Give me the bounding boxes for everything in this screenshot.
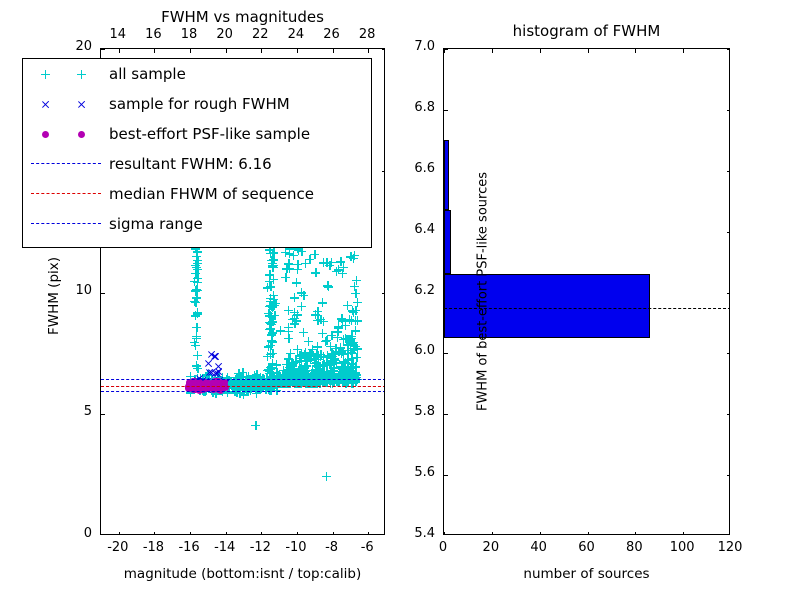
tick-mark xyxy=(683,49,684,53)
scatter-point-all-sample xyxy=(281,273,290,282)
figure-canvas: FWHM vs magnitudes 1416182022242628 -20-… xyxy=(0,0,800,600)
tick-mark xyxy=(382,171,384,172)
legend-symbol xyxy=(78,131,85,138)
legend-symbol xyxy=(77,100,86,109)
scatter-point-all-sample xyxy=(263,366,272,375)
legend-symbol xyxy=(41,100,50,109)
tick-mark xyxy=(540,49,541,53)
left-ytick-10: 10 xyxy=(62,283,92,298)
left-ytick-20: 20 xyxy=(62,39,92,54)
right-ytick-5.8: 5.8 xyxy=(401,404,435,419)
legend-item: best-effort PSF-like sample xyxy=(23,119,371,149)
reference-line-dashed xyxy=(101,386,384,387)
scatter-point-all-sample xyxy=(193,308,202,317)
tick-mark xyxy=(727,414,729,415)
tick-mark xyxy=(727,293,729,294)
scatter-point-all-sample xyxy=(334,322,343,331)
scatter-point-all-sample xyxy=(322,472,331,481)
scatter-point-all-sample xyxy=(311,310,320,319)
scatter-point-all-sample xyxy=(290,314,299,323)
scatter-point-all-sample xyxy=(190,277,199,286)
scatter-point-all-sample xyxy=(353,298,362,307)
tick-mark xyxy=(297,49,298,53)
right-xtick-100: 100 xyxy=(666,540,698,555)
scatter-point-all-sample xyxy=(312,350,321,359)
scatter-point-all-sample xyxy=(284,334,293,343)
scatter-point-all-sample xyxy=(284,306,293,315)
right-y-axis-label: FWHM of best-effort PSF-like sources xyxy=(476,127,491,457)
tick-mark xyxy=(154,49,155,53)
scatter-point-all-sample xyxy=(352,276,361,285)
left-toptick-16: 16 xyxy=(139,27,167,42)
right-ytick-6.8: 6.8 xyxy=(401,100,435,115)
tick-mark xyxy=(492,532,493,534)
right-ytick-6.4: 6.4 xyxy=(401,222,435,237)
right-ytick-7.0: 7.0 xyxy=(401,39,435,54)
tick-mark xyxy=(333,532,334,534)
legend-marker-plus-icon xyxy=(23,59,109,89)
legend-line xyxy=(31,193,101,194)
tick-mark xyxy=(444,414,448,415)
legend-line xyxy=(31,163,101,164)
tick-mark xyxy=(154,532,155,534)
legend-item: sigma range xyxy=(23,209,371,239)
scatter-point-rough-fwhm xyxy=(211,369,220,378)
left-y-axis-label: FWHM (pix) xyxy=(46,236,62,356)
scatter-point-all-sample xyxy=(352,353,361,362)
reference-line-dashdot xyxy=(101,379,384,380)
left-x-axis-label: magnitude (bottom:isnt / top:calib) xyxy=(100,566,385,582)
legend-label: best-effort PSF-like sample xyxy=(109,125,310,143)
scatter-point-all-sample xyxy=(349,254,358,263)
left-chart-title: FWHM vs magnitudes xyxy=(100,8,385,26)
right-ytick-6.6: 6.6 xyxy=(401,161,435,176)
left-toptick-24: 24 xyxy=(282,27,310,42)
right-xtick-60: 60 xyxy=(571,540,603,555)
tick-mark xyxy=(588,49,589,53)
left-toptick-26: 26 xyxy=(318,27,346,42)
legend-item: median FHWM of sequence xyxy=(23,179,371,209)
tick-mark xyxy=(333,49,334,53)
tick-mark xyxy=(727,475,729,476)
tick-mark xyxy=(190,532,191,534)
right-ytick-6.0: 6.0 xyxy=(401,343,435,358)
left-xtick--8: -8 xyxy=(318,540,346,555)
scatter-point-all-sample xyxy=(323,281,332,290)
tick-mark xyxy=(368,532,369,534)
scatter-point-all-sample xyxy=(193,286,202,295)
tick-mark xyxy=(444,110,448,111)
tick-mark xyxy=(382,414,384,415)
tick-mark xyxy=(101,414,105,415)
scatter-point-all-sample xyxy=(347,362,356,371)
scatter-point-all-sample xyxy=(251,421,260,430)
scatter-point-all-sample xyxy=(192,362,201,371)
left-xtick--20: -20 xyxy=(104,540,132,555)
legend-item: resultant FWHM: 6.16 xyxy=(23,149,371,179)
tick-mark xyxy=(683,532,684,534)
tick-mark xyxy=(727,353,729,354)
tick-mark xyxy=(727,110,729,111)
scatter-point-all-sample xyxy=(351,326,360,335)
legend-item: sample for rough FWHM xyxy=(23,89,371,119)
tick-mark xyxy=(727,49,729,50)
tick-mark xyxy=(190,49,191,53)
legend-marker-dashed-line-icon xyxy=(23,149,109,179)
left-xtick--18: -18 xyxy=(139,540,167,555)
right-x-axis-label: number of sources xyxy=(443,566,730,582)
left-toptick-28: 28 xyxy=(353,27,381,42)
scatter-point-all-sample xyxy=(351,316,360,325)
tick-mark xyxy=(727,171,729,172)
legend-symbol xyxy=(77,70,86,79)
right-xtick-20: 20 xyxy=(475,540,507,555)
tick-mark xyxy=(368,49,369,53)
scatter-point-all-sample xyxy=(337,314,346,323)
left-ytick-0: 0 xyxy=(62,526,92,541)
scatter-point-all-sample xyxy=(297,302,306,311)
right-ytick-5.4: 5.4 xyxy=(401,526,435,541)
legend-label: resultant FWHM: 6.16 xyxy=(109,155,272,173)
legend-box: all samplesample for rough FWHMbest-effo… xyxy=(22,58,372,248)
scatter-point-all-sample xyxy=(299,328,308,337)
tick-mark xyxy=(226,49,227,53)
right-xtick-40: 40 xyxy=(523,540,555,555)
right-xtick-80: 80 xyxy=(618,540,650,555)
scatter-point-all-sample xyxy=(190,297,199,306)
tick-mark xyxy=(382,49,384,50)
scatter-point-all-sample xyxy=(266,319,275,328)
scatter-point-all-sample xyxy=(311,268,320,277)
tick-mark xyxy=(444,532,445,534)
right-xtick-0: 0 xyxy=(427,540,459,555)
tick-mark xyxy=(727,232,729,233)
left-xtick--10: -10 xyxy=(282,540,310,555)
tick-mark xyxy=(382,293,384,294)
scatter-point-all-sample xyxy=(322,258,331,267)
scatter-point-all-sample xyxy=(285,264,294,273)
legend-marker-dashed-line-icon xyxy=(23,179,109,209)
scatter-point-all-sample xyxy=(193,351,202,360)
legend-marker-circle-icon xyxy=(23,119,109,149)
scatter-point-all-sample xyxy=(299,291,308,300)
scatter-point-all-sample xyxy=(337,347,346,356)
scatter-point-all-sample xyxy=(190,338,199,347)
scatter-point-all-sample xyxy=(289,251,298,260)
scatter-point-all-sample xyxy=(336,257,345,266)
tick-mark xyxy=(119,532,120,534)
scatter-point-all-sample xyxy=(192,323,201,332)
legend-label: all sample xyxy=(109,65,186,83)
tick-mark xyxy=(101,293,105,294)
tick-mark xyxy=(635,532,636,534)
scatter-point-all-sample xyxy=(305,255,314,264)
legend-label: sample for rough FWHM xyxy=(109,95,290,113)
left-toptick-14: 14 xyxy=(104,27,132,42)
left-xtick--6: -6 xyxy=(353,540,381,555)
histogram-bar xyxy=(444,210,451,274)
tick-mark xyxy=(119,49,120,53)
scatter-point-all-sample xyxy=(327,376,336,385)
legend-symbol xyxy=(42,131,49,138)
histogram-median-line xyxy=(444,308,729,309)
scatter-point-all-sample xyxy=(318,298,327,307)
legend-symbol xyxy=(41,70,50,79)
scatter-point-all-sample xyxy=(193,259,202,268)
tick-mark xyxy=(226,532,227,534)
scatter-point-all-sample xyxy=(340,376,349,385)
tick-mark xyxy=(588,532,589,534)
tick-mark xyxy=(444,49,448,50)
left-ytick-5: 5 xyxy=(62,404,92,419)
scatter-point-all-sample xyxy=(304,337,313,346)
scatter-point-all-sample xyxy=(338,269,347,278)
tick-mark xyxy=(444,353,448,354)
histogram-bar xyxy=(444,140,449,210)
scatter-point-all-sample xyxy=(264,309,273,318)
tick-mark xyxy=(444,475,448,476)
tick-mark xyxy=(261,532,262,534)
left-toptick-20: 20 xyxy=(211,27,239,42)
left-xtick--12: -12 xyxy=(246,540,274,555)
right-ytick-6.2: 6.2 xyxy=(401,283,435,298)
tick-mark xyxy=(101,49,105,50)
left-toptick-22: 22 xyxy=(246,27,274,42)
scatter-point-all-sample xyxy=(263,352,272,361)
tick-mark xyxy=(261,49,262,53)
scatter-point-all-sample xyxy=(343,301,352,310)
scatter-point-all-sample xyxy=(266,341,275,350)
scatter-point-all-sample xyxy=(269,275,278,284)
tick-mark xyxy=(297,532,298,534)
left-toptick-18: 18 xyxy=(175,27,203,42)
scatter-point-all-sample xyxy=(269,261,278,270)
right-xtick-120: 120 xyxy=(714,540,746,555)
scatter-point-all-sample xyxy=(290,293,299,302)
scatter-point-all-sample xyxy=(266,294,275,303)
left-xtick--14: -14 xyxy=(211,540,239,555)
scatter-point-all-sample xyxy=(269,248,278,257)
scatter-point-all-sample xyxy=(292,278,301,287)
right-ytick-5.6: 5.6 xyxy=(401,465,435,480)
scatter-point-all-sample xyxy=(293,260,302,269)
tick-mark xyxy=(492,49,493,53)
legend-item: all sample xyxy=(23,59,371,89)
scatter-point-all-sample xyxy=(312,369,321,378)
right-chart-title: histogram of FWHM xyxy=(443,22,730,40)
scatter-point-all-sample xyxy=(272,360,281,369)
legend-line xyxy=(31,223,101,224)
tick-mark xyxy=(540,532,541,534)
scatter-point-rough-fwhm xyxy=(204,359,213,368)
scatter-point-all-sample xyxy=(327,331,336,340)
scatter-point-all-sample xyxy=(339,335,348,344)
legend-marker-dashdot-line-icon xyxy=(23,209,109,239)
scatter-point-all-sample xyxy=(284,354,293,363)
scatter-point-all-sample xyxy=(337,362,346,371)
legend-label: median FHWM of sequence xyxy=(109,185,314,203)
tick-mark xyxy=(635,49,636,53)
left-xtick--16: -16 xyxy=(175,540,203,555)
scatter-point-all-sample xyxy=(351,289,360,298)
legend-marker-x-icon xyxy=(23,89,109,119)
legend-label: sigma range xyxy=(109,215,203,233)
reference-line-dashdot xyxy=(101,391,384,392)
